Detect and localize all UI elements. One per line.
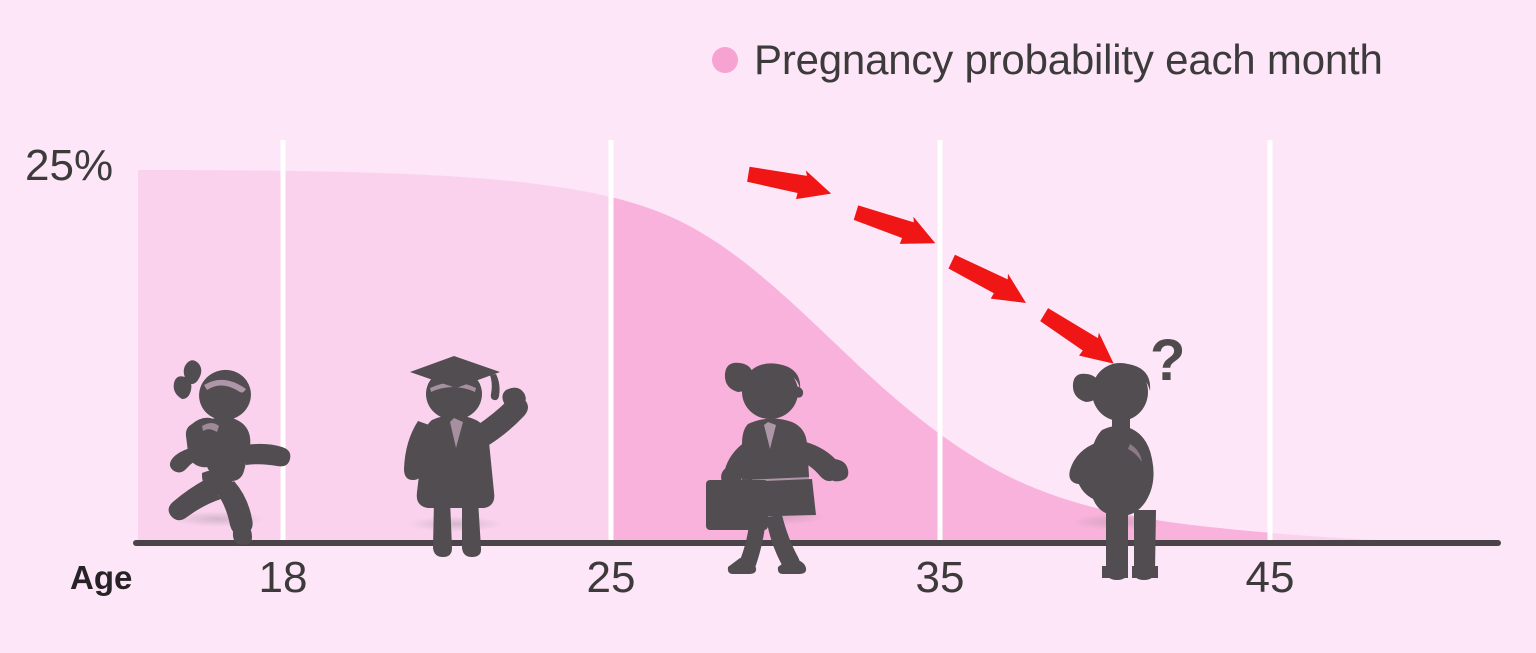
trend-arrow-2: [851, 196, 942, 256]
plot-area: [0, 0, 1536, 653]
x-axis-name: Age: [70, 561, 132, 594]
question-mark-annotation: ?: [1150, 332, 1185, 390]
trend-arrow-3: [945, 246, 1034, 315]
trend-arrow-1: [745, 157, 835, 207]
pictogram-pregnant-woman: [1069, 363, 1163, 580]
x-tick-label-35: 35: [916, 556, 965, 600]
x-tick-label-18: 18: [259, 556, 308, 600]
pregnancy-probability-chart: Pregnancy probability each month 25% Age…: [0, 0, 1536, 653]
legend: Pregnancy probability each month: [712, 28, 1383, 92]
y-axis-top-label: 25%: [25, 144, 113, 188]
legend-label: Pregnancy probability each month: [754, 39, 1383, 81]
legend-dot-icon: [712, 47, 738, 73]
x-tick-label-45: 45: [1246, 556, 1295, 600]
trend-arrow-4: [1036, 300, 1123, 375]
x-tick-label-25: 25: [587, 556, 636, 600]
